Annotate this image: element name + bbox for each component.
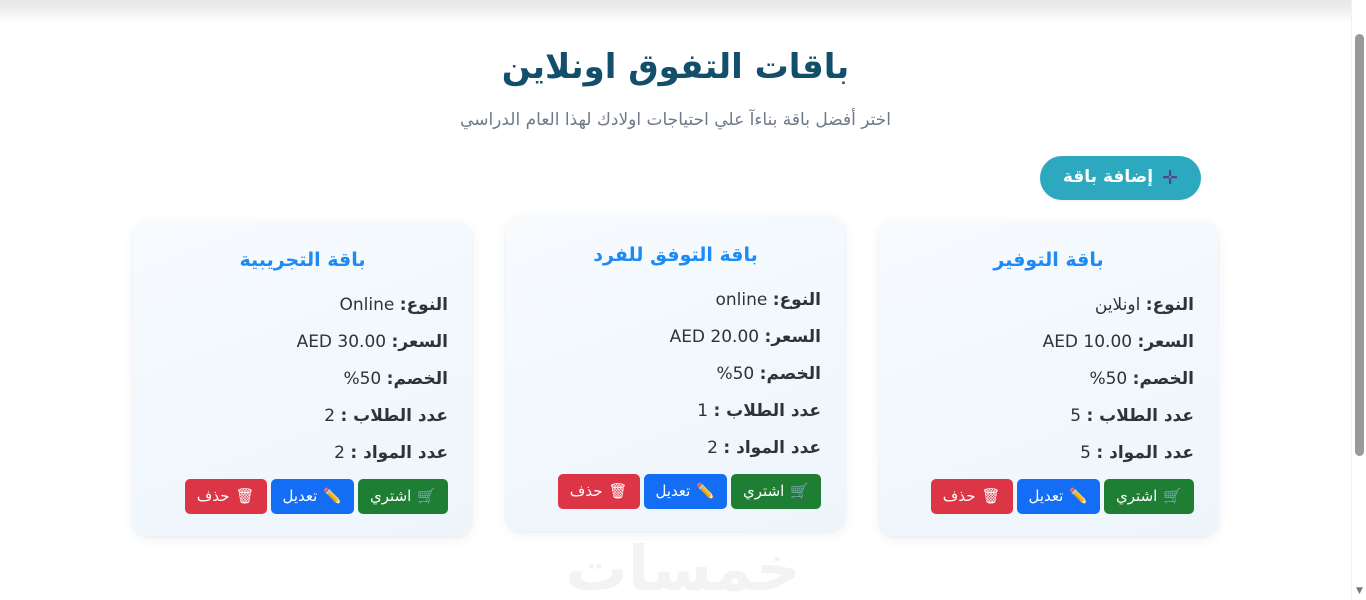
package-type-label: النوع: xyxy=(400,295,448,315)
package-price-label: السعر: xyxy=(1138,332,1194,352)
package-subjects-value: 5 xyxy=(1080,443,1091,463)
package-discount-row: الخصم: 50% xyxy=(157,368,448,391)
edit-button[interactable]: ✏️ تعديل xyxy=(271,479,355,514)
package-type-row: النوع: Online xyxy=(157,294,448,317)
package-students-row: عدد الطلاب : 1 xyxy=(530,400,821,423)
package-students-value: 5 xyxy=(1070,406,1081,426)
package-subjects-value: 2 xyxy=(334,443,345,463)
pencil-icon: ✏️ xyxy=(1069,489,1088,504)
package-subjects-value: 2 xyxy=(707,438,718,458)
buy-button-label: اشتري xyxy=(370,487,411,505)
delete-button[interactable]: 🗑 حذف xyxy=(931,479,1013,514)
package-actions: 🛒 اشتري ✏️ تعديل 🗑 حذف xyxy=(157,479,448,514)
shopping-cart-icon: 🛒 xyxy=(1163,489,1182,504)
package-price-row: السعر: AED 30.00 xyxy=(157,331,448,354)
buy-button[interactable]: 🛒 اشتري xyxy=(358,479,448,514)
package-discount-value: 50% xyxy=(1089,369,1127,389)
package-details: النوع: اونلاين السعر: AED 10.00 الخصم: 5… xyxy=(903,294,1194,465)
buy-button-label: اشتري xyxy=(743,482,784,500)
package-type-row: النوع: online xyxy=(530,289,821,312)
package-students-value: 1 xyxy=(697,401,708,421)
package-price-label: السعر: xyxy=(392,332,448,352)
package-subjects-row: عدد المواد : 2 xyxy=(530,437,821,460)
trash-icon: 🗑 xyxy=(608,484,627,499)
plus-icon: ✛ xyxy=(1162,169,1178,188)
delete-button[interactable]: 🗑 حذف xyxy=(558,474,640,509)
delete-button-label: حذف xyxy=(943,487,976,505)
package-title: باقة التوفير xyxy=(903,248,1194,273)
toolbar: ✛ إضافة باقة xyxy=(0,156,1351,199)
package-type-row: النوع: اونلاين xyxy=(903,294,1194,317)
buy-button-label: اشتري xyxy=(1116,487,1157,505)
package-title: باقة التجريبية xyxy=(157,248,448,273)
package-students-label: عدد الطلاب : xyxy=(1086,406,1194,426)
package-card[interactable]: باقة التوفير النوع: اونلاين السعر: AED 1… xyxy=(879,222,1218,536)
page-content: باقات التفوق اونلاين اختر أفضل باقة بناء… xyxy=(0,0,1351,600)
package-price-value: AED 20.00 xyxy=(670,327,760,347)
package-discount-row: الخصم: 50% xyxy=(530,363,821,386)
package-students-value: 2 xyxy=(324,406,335,426)
package-students-row: عدد الطلاب : 5 xyxy=(903,405,1194,428)
package-actions: 🛒 اشتري ✏️ تعديل 🗑 حذف xyxy=(530,474,821,509)
package-details: النوع: online السعر: AED 20.00 الخصم: 50… xyxy=(530,289,821,460)
delete-button-label: حذف xyxy=(197,487,230,505)
delete-button-label: حذف xyxy=(570,482,603,500)
package-price-row: السعر: AED 20.00 xyxy=(530,326,821,349)
add-package-button[interactable]: ✛ إضافة باقة xyxy=(1040,156,1201,199)
package-type-value: اونلاين xyxy=(1095,295,1140,315)
buy-button[interactable]: 🛒 اشتري xyxy=(731,474,821,509)
package-type-value: online xyxy=(716,290,768,310)
package-discount-value: 50% xyxy=(343,369,381,389)
package-type-label: النوع: xyxy=(773,290,821,310)
package-students-label: عدد الطلاب : xyxy=(340,406,448,426)
package-discount-row: الخصم: 50% xyxy=(903,368,1194,391)
package-price-value: AED 30.00 xyxy=(297,332,387,352)
package-students-row: عدد الطلاب : 2 xyxy=(157,405,448,428)
package-title: باقة التوفق للفرد xyxy=(530,243,821,268)
app-screen: خمسات باقات التفوق اونلاين اختر أفضل باق… xyxy=(0,0,1366,600)
package-subjects-label: عدد المواد : xyxy=(723,438,821,458)
package-students-label: عدد الطلاب : xyxy=(713,401,821,421)
buy-button[interactable]: 🛒 اشتري xyxy=(1104,479,1194,514)
delete-button[interactable]: 🗑 حذف xyxy=(185,479,267,514)
package-subjects-label: عدد المواد : xyxy=(1096,443,1194,463)
package-price-value: AED 10.00 xyxy=(1043,332,1133,352)
package-card[interactable]: باقة التجريبية النوع: Online السعر: AED … xyxy=(133,222,472,536)
package-card-list: باقة التوفير النوع: اونلاين السعر: AED 1… xyxy=(0,222,1351,536)
page-subtitle: اختر أفضل باقة بناءآ علي احتياجات اولادك… xyxy=(0,109,1351,133)
edit-button[interactable]: ✏️ تعديل xyxy=(644,474,728,509)
edit-button-label: تعديل xyxy=(1029,487,1064,505)
trash-icon: 🗑 xyxy=(235,489,254,504)
package-subjects-row: عدد المواد : 2 xyxy=(157,442,448,465)
package-details: النوع: Online السعر: AED 30.00 الخصم: 50… xyxy=(157,294,448,465)
package-discount-label: الخصم: xyxy=(1133,369,1194,389)
scroll-down-arrow-icon[interactable]: ▼ xyxy=(1352,587,1366,596)
page-title: باقات التفوق اونلاين xyxy=(0,46,1351,89)
scrollbar-thumb[interactable] xyxy=(1355,34,1364,456)
edit-button[interactable]: ✏️ تعديل xyxy=(1017,479,1101,514)
edit-button-label: تعديل xyxy=(656,482,691,500)
shopping-cart-icon: 🛒 xyxy=(417,489,436,504)
package-subjects-label: عدد المواد : xyxy=(350,443,448,463)
package-price-label: السعر: xyxy=(765,327,821,347)
package-discount-label: الخصم: xyxy=(387,369,448,389)
package-discount-value: 50% xyxy=(716,364,754,384)
package-subjects-row: عدد المواد : 5 xyxy=(903,442,1194,465)
vertical-scrollbar[interactable]: ▼ xyxy=(1351,0,1366,600)
trash-icon: 🗑 xyxy=(981,489,1000,504)
pencil-icon: ✏️ xyxy=(696,484,715,499)
package-price-row: السعر: AED 10.00 xyxy=(903,331,1194,354)
pencil-icon: ✏️ xyxy=(323,489,342,504)
shopping-cart-icon: 🛒 xyxy=(790,484,809,499)
edit-button-label: تعديل xyxy=(283,487,318,505)
package-type-label: النوع: xyxy=(1146,295,1194,315)
add-package-label: إضافة باقة xyxy=(1063,167,1153,187)
package-actions: 🛒 اشتري ✏️ تعديل 🗑 حذف xyxy=(903,479,1194,514)
package-card[interactable]: باقة التوفق للفرد النوع: online السعر: A… xyxy=(506,217,845,531)
package-type-value: Online xyxy=(340,295,395,315)
package-discount-label: الخصم: xyxy=(760,364,821,384)
